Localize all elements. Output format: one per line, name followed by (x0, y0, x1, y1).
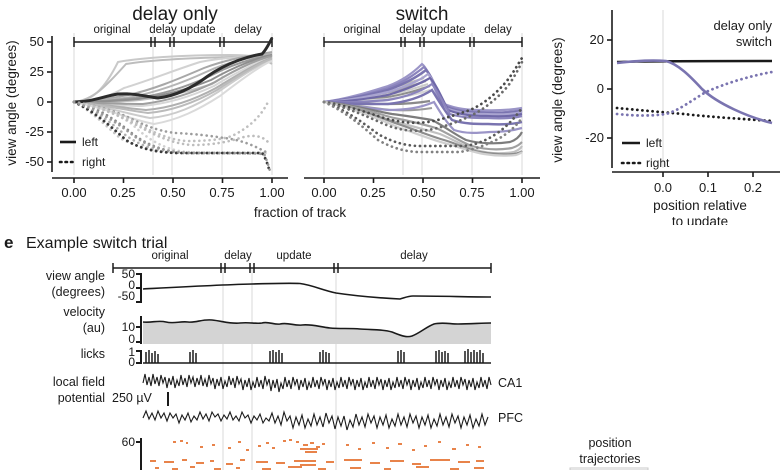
row-raster: 60 (122, 435, 484, 470)
row1-view-angle-trace (143, 283, 491, 299)
panel-e-phase-bracket (113, 263, 491, 273)
panel-e-letter: e (4, 233, 13, 252)
x-tick-075-2: 0.75 (459, 185, 484, 200)
subplot-switch: switch original delay update delay (304, 4, 540, 200)
panel-e-gridlines (223, 268, 336, 470)
right-y-tick-m20: -20 (585, 130, 604, 145)
lfp-scale-bar-label: 250 µV (112, 391, 153, 405)
right-y-tick-20: 20 (590, 32, 604, 47)
phase-label-delay-2: delay (399, 24, 427, 36)
row-lfp: local field potential 250 µV CA1 PFC (53, 374, 523, 430)
phase-label-original-2: original (343, 24, 380, 36)
phase-label-update-2: update (430, 24, 465, 36)
phase-bracket-2 (324, 37, 522, 47)
row1-tick-m50: -50 (118, 289, 136, 303)
y-tick-50: 50 (30, 34, 44, 49)
subplot-title-switch: switch (396, 4, 449, 25)
panel-d-svg: view angle (degrees) 50 25 0 -25 -50 del… (0, 0, 780, 225)
raster-dots (150, 439, 484, 470)
row3-lick-ticks (146, 349, 483, 363)
right-x-tick-01: 0.1 (699, 180, 717, 195)
phase-bracket-1 (74, 37, 272, 47)
x-tick-025-1: 0.25 (110, 185, 135, 200)
subplot-title-delay-only: delay only (132, 4, 218, 25)
right-curve-switch-right (617, 72, 772, 116)
y-tick-m50: -50 (25, 154, 44, 169)
row-velocity: velocity (au) 10 0 (63, 305, 491, 346)
panel-right-y-axis-label: view angle (degrees) (550, 37, 565, 162)
x-tick-0-1: 0.00 (61, 185, 86, 200)
x-tick-100-1: 1.00 (259, 185, 284, 200)
panel-e-phase-delay-1: delay (224, 250, 252, 262)
panel-e-phase-update: update (276, 250, 311, 262)
right-legend-left-label: left (646, 136, 663, 150)
y-tick-m25: -25 (25, 124, 44, 139)
row-label-lfp-2: potential (58, 391, 105, 405)
x-tick-050-2: 0.50 (410, 185, 435, 200)
lfp-label-pfc: PFC (498, 411, 523, 425)
lfp-trace-ca1 (143, 374, 491, 392)
side-note-line2: trajectories (579, 452, 640, 466)
legend-left-label-1: left (82, 135, 99, 149)
row2-tick-0: 0 (128, 332, 135, 346)
x-tick-025-2: 0.25 (360, 185, 385, 200)
row-label-view-angle-2: (degrees) (52, 285, 106, 299)
panel-e-phase-delay-2: delay (400, 250, 428, 262)
x-tick-050-1: 0.50 (160, 185, 185, 200)
right-x-tick-00: 0.0 (654, 180, 672, 195)
row3-tick-0: 0 (128, 355, 135, 369)
right-curve-switch-left (617, 61, 772, 123)
row-label-velocity-2: (au) (83, 321, 105, 335)
row-label-view-angle-1: view angle (46, 269, 105, 283)
phase-label-delay-2-2: delay (484, 24, 512, 36)
position-trajectories-note: position trajectories (579, 436, 640, 466)
x-tick-100-2: 1.00 (509, 185, 534, 200)
row-label-licks: licks (81, 347, 105, 361)
phase-label-original-1: original (93, 24, 130, 36)
legend-right-label-1: right (82, 155, 106, 169)
right-legend-right-label: right (646, 156, 670, 170)
lfp-label-ca1: CA1 (498, 376, 522, 390)
side-note-line1: position (588, 436, 631, 450)
y-tick-0: 0 (37, 94, 44, 109)
panel-e-phase-original: original (151, 250, 188, 262)
right-x-axis-label-line1: position relative (653, 198, 747, 213)
right-legend-switch: switch (736, 34, 772, 49)
panel-d-x-axis-label: fraction of track (254, 205, 347, 220)
row-licks: licks 1 0 (81, 345, 491, 369)
phase-label-delay-1: delay (149, 24, 177, 36)
subplot-delay-only: delay only original delay update delay (52, 4, 288, 200)
panel-e-title: Example switch trial (26, 235, 167, 252)
phase-label-delay-2-1: delay (234, 24, 262, 36)
right-y-tick-0: 0 (597, 81, 604, 96)
row-label-lfp-1: local field (53, 375, 105, 389)
panel-right: view angle (degrees) 20 0 -20 delay only… (550, 10, 780, 225)
figure-root: view angle (degrees) 50 25 0 -25 -50 del… (0, 0, 780, 470)
panel-d-y-axis-label: view angle (degrees) (4, 40, 19, 165)
phase-label-update-1: update (180, 24, 215, 36)
lfp-trace-pfc (143, 411, 488, 430)
x-tick-0-2: 0.00 (311, 185, 336, 200)
right-legend-delay-only: delay only (713, 18, 772, 33)
row-label-velocity-1: velocity (63, 305, 105, 319)
legend-1: left right (60, 135, 106, 169)
y-tick-25: 25 (30, 64, 44, 79)
right-x-axis-label-line2: to update (672, 214, 728, 225)
right-x-tick-02: 0.2 (744, 180, 762, 195)
panel-e-svg: e Example switch trial original delay up… (0, 228, 780, 470)
row5-tick-60: 60 (122, 435, 136, 449)
x-tick-075-1: 0.75 (209, 185, 234, 200)
